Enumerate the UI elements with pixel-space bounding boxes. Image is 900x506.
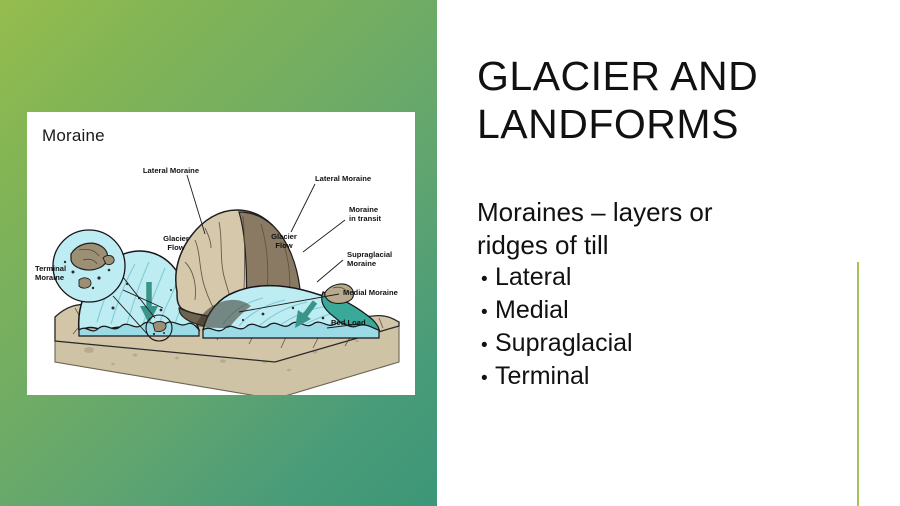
body-lead-line-2: ridges of till (477, 229, 827, 262)
slide-title: GLACIER AND LANDFORMS (477, 52, 827, 148)
bullet-label: Lateral (495, 262, 571, 293)
slide-canvas: Moraine (0, 0, 900, 506)
list-item: • Lateral (481, 262, 827, 295)
label-terminal-line2: Moraine (35, 273, 64, 282)
label-glacier-flow-right-line2: Flow (261, 241, 307, 250)
label-bed-load: Bed Load (331, 318, 366, 327)
label-moraine-in-transit-line2: in transit (349, 214, 381, 223)
accent-rule (857, 262, 859, 506)
label-lateral-moraine-left: Lateral Moraine (123, 166, 219, 175)
bullet-glyph-icon: • (481, 264, 495, 295)
label-glacier-flow-left-line1: Glacier (153, 234, 199, 243)
bullet-label: Supraglacial (495, 328, 633, 359)
label-terminal-line1: Terminal (35, 264, 66, 273)
list-item: • Supraglacial (481, 328, 827, 361)
bullet-label: Medial (495, 295, 569, 326)
label-supraglacial-line2: Moraine (347, 259, 376, 268)
bullet-glyph-icon: • (481, 330, 495, 361)
label-moraine-in-transit-line1: Moraine (349, 205, 378, 214)
glacier-diagram-card[interactable]: Moraine (27, 112, 415, 395)
bullet-label: Terminal (495, 361, 589, 392)
slide-body: Moraines – layers or ridges of till • La… (477, 196, 827, 394)
bullet-glyph-icon: • (481, 297, 495, 328)
label-glacier-flow-right-line1: Glacier (261, 232, 307, 241)
list-item: • Medial (481, 295, 827, 328)
title-line-1: GLACIER AND (477, 52, 827, 100)
list-item: • Terminal (481, 361, 827, 394)
title-line-2: LANDFORMS (477, 100, 827, 148)
body-lead-line-1: Moraines – layers or (477, 196, 827, 229)
bullet-glyph-icon: • (481, 363, 495, 394)
label-lateral-moraine-right: Lateral Moraine (315, 174, 371, 183)
label-supraglacial-line1: Supraglacial (347, 250, 392, 259)
label-medial-moraine: Medial Moraine (343, 288, 398, 297)
label-glacier-flow-left-line2: Flow (153, 243, 199, 252)
